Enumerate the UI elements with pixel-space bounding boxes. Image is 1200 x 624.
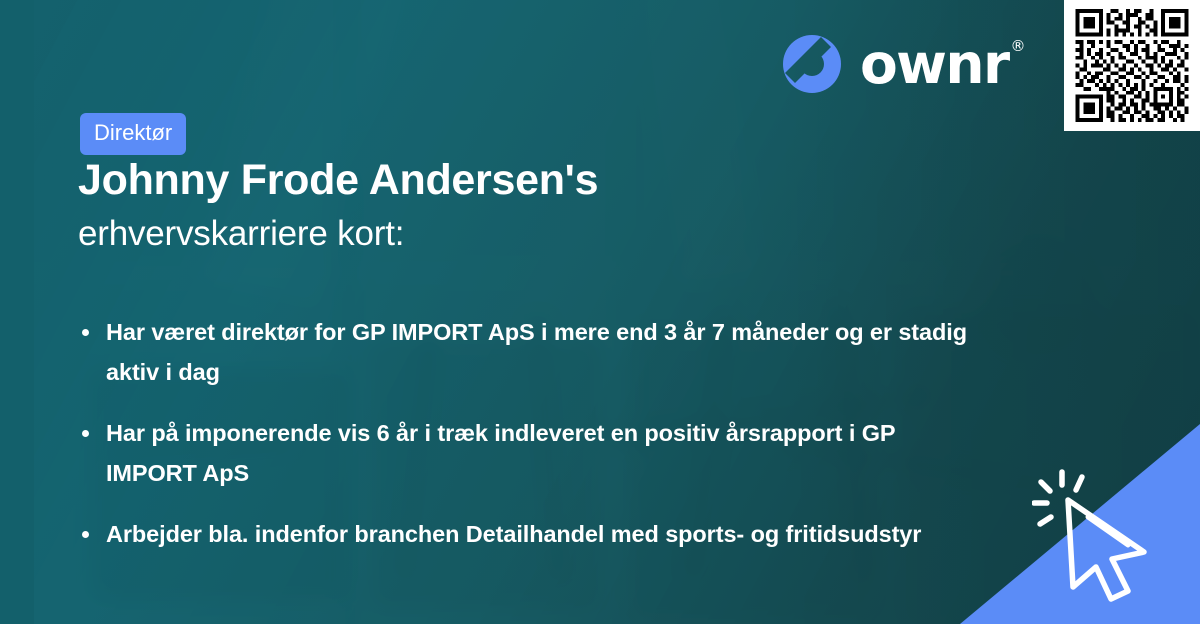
bullet-dot-icon (82, 329, 89, 336)
click-cursor-icon (1032, 460, 1182, 610)
list-item: Arbejder bla. indenfor branchen Detailha… (78, 514, 978, 554)
list-item-text: Har på imponerende vis 6 år i træk indle… (106, 413, 978, 494)
profile-card: ownr® Direktør Johnny Frode Andersen's e… (0, 0, 1200, 624)
qr-code-image (1073, 9, 1191, 122)
registered-mark: ® (1010, 37, 1023, 55)
ownr-logo[interactable]: ownr® (781, 33, 1022, 95)
bullet-dot-icon (82, 531, 89, 538)
headline-line-1: Johnny Frode Andersen's (78, 156, 958, 204)
list-item-text: Arbejder bla. indenfor branchen Detailha… (106, 514, 978, 554)
ownr-wordmark-text: ownr (860, 32, 1008, 96)
career-highlights-list: Har været direktør for GP IMPORT ApS i m… (78, 312, 978, 554)
ownr-wordmark: ownr® (860, 37, 1022, 92)
list-item: Har været direktør for GP IMPORT ApS i m… (78, 312, 978, 393)
list-item-text: Har været direktør for GP IMPORT ApS i m… (106, 312, 978, 393)
status-badge: Direktør (80, 113, 186, 155)
left-color-band (0, 0, 34, 624)
headline-line-2: erhvervskarriere kort: (78, 213, 958, 255)
ownr-circle-logo-icon (781, 33, 843, 95)
list-item: Har på imponerende vis 6 år i træk indle… (78, 413, 978, 494)
qr-code[interactable] (1064, 0, 1200, 131)
page-title: Johnny Frode Andersen's erhvervskarriere… (78, 156, 958, 255)
bullet-dot-icon (82, 430, 89, 437)
